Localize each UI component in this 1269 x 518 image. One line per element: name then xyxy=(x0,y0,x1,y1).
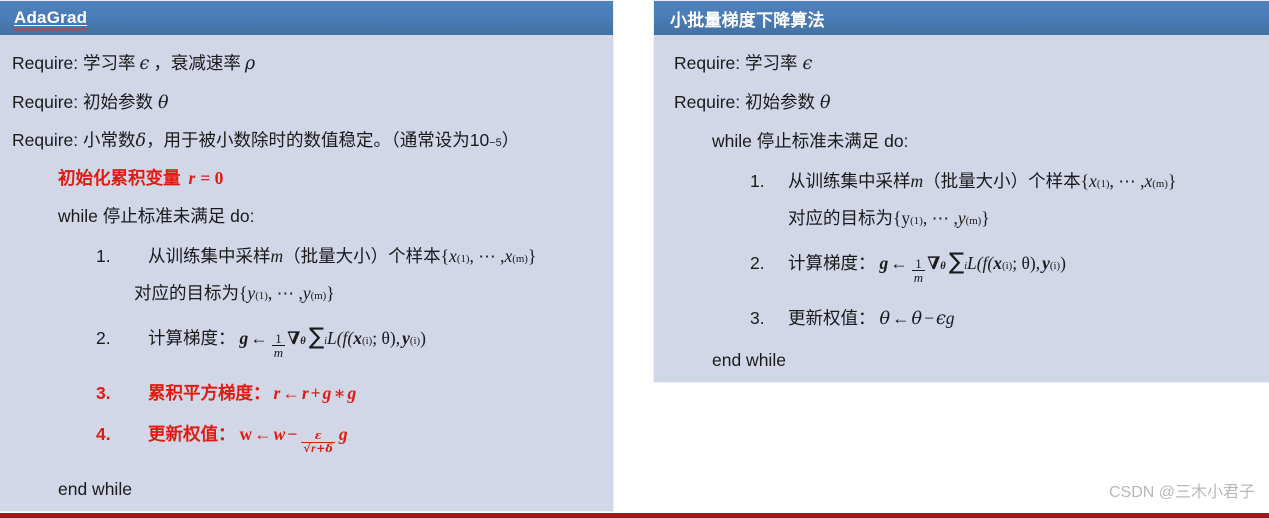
line-while-condition: while 停止标准未满足 do: xyxy=(58,208,603,226)
algorithm-panel-adagrad: AdaGrad Require: 学习率 ϵ ，衰减速率 ρ Require: … xyxy=(0,0,614,512)
line-step-1: 1. 从训练集中采样 m （批量大小）个样本 {x(1), ⋯ ,x(m)} xyxy=(750,173,1259,191)
theta-symbol: θ xyxy=(158,95,169,113)
line-end-while: end while xyxy=(712,352,1259,370)
fraction-epsilon-over-sqrt-r-plus-delta: ε √r+δ xyxy=(301,430,335,456)
summation-operator: ∑ xyxy=(949,251,964,274)
panel-header-adagrad: AdaGrad xyxy=(0,1,613,35)
line-step-1-targets: 对应的目标为 {y(1), ⋯ ,y(m)} xyxy=(134,285,603,303)
line-require-small-constant: Require: 小常数 δ ，用于被小数除时的数值稳定。（通常设为10−5） xyxy=(12,132,603,151)
step-number-1: 1. xyxy=(750,173,788,191)
fraction-one-over-m: 1 m xyxy=(272,332,285,360)
line-while-condition: while 停止标准未满足 do: xyxy=(712,133,1259,151)
theta-symbol: θ xyxy=(820,95,831,113)
slide-canvas: AdaGrad Require: 学习率 ϵ ，衰减速率 ρ Require: … xyxy=(0,0,1269,518)
fraction-one-over-m: 1 m xyxy=(912,257,925,285)
line-end-while: end while xyxy=(58,481,603,499)
bottom-divider xyxy=(0,513,1269,518)
step-number-2: 2. xyxy=(750,255,788,273)
nabla-operator: ∇ xyxy=(927,255,940,273)
line-step-3: 3. 更新权值： θ ← θ − ϵg xyxy=(750,310,1259,329)
line-step-1: 1. 从训练集中采样 m （批量大小）个样本 {x(1), ⋯ ,x(m)} xyxy=(96,248,603,266)
line-step-4: 4. 更新权值： w ← w − ε √r+δ g xyxy=(96,426,603,457)
panel-title-minibatch-gd: 小批量梯度下降算法 xyxy=(670,6,825,31)
line-step-2: 2. 计算梯度： g ← 1 m ∇θ ∑i L(f(x(i); θ),y(i)… xyxy=(96,326,603,361)
step-number-2: 2. xyxy=(96,330,148,348)
epsilon-symbol: ϵ xyxy=(140,56,150,74)
step-number-1: 1. xyxy=(96,248,148,266)
csdn-watermark: CSDN @三木小君子 xyxy=(1109,478,1255,502)
nabla-operator: ∇ xyxy=(287,330,300,348)
line-require-learning-rate: Require: 学习率 ϵ xyxy=(674,55,1259,74)
step-number-3: 3. xyxy=(96,385,148,403)
line-require-learning-rate: Require: 学习率 ϵ ，衰减速率 ρ xyxy=(12,55,603,74)
epsilon-symbol: ϵ xyxy=(803,56,813,74)
line-init-accumulator: 初始化累积变量 r = 0 xyxy=(58,170,603,188)
line-step-2: 2. 计算梯度： g ← 1 m ∇θ ∑i L(f(x(i); θ),y(i)… xyxy=(750,251,1259,286)
panel-header-minibatch-gd: 小批量梯度下降算法 xyxy=(654,1,1269,35)
summation-operator: ∑ xyxy=(309,326,324,349)
step-number-4: 4. xyxy=(96,426,148,444)
panel-body-adagrad: Require: 学习率 ϵ ，衰减速率 ρ Require: 初始参数 θ R… xyxy=(0,35,613,506)
step-number-3: 3. xyxy=(750,310,788,328)
rho-symbol: ρ xyxy=(245,56,255,74)
line-require-initial-params: Require: 初始参数 θ xyxy=(12,94,603,113)
panel-body-minibatch-gd: Require: 学习率 ϵ Require: 初始参数 θ while 停止标… xyxy=(654,35,1269,378)
line-step-3: 3. 累积平方梯度： r ← r + g ∗ g xyxy=(96,385,603,403)
line-require-initial-params: Require: 初始参数 θ xyxy=(674,94,1259,113)
line-step-1-targets: 对应的目标为 {y(1), ⋯ ,y(m)} xyxy=(788,210,1259,228)
algorithm-panel-minibatch-gd: 小批量梯度下降算法 Require: 学习率 ϵ Require: 初始参数 θ… xyxy=(653,0,1269,383)
panel-title-adagrad: AdaGrad xyxy=(14,8,87,28)
